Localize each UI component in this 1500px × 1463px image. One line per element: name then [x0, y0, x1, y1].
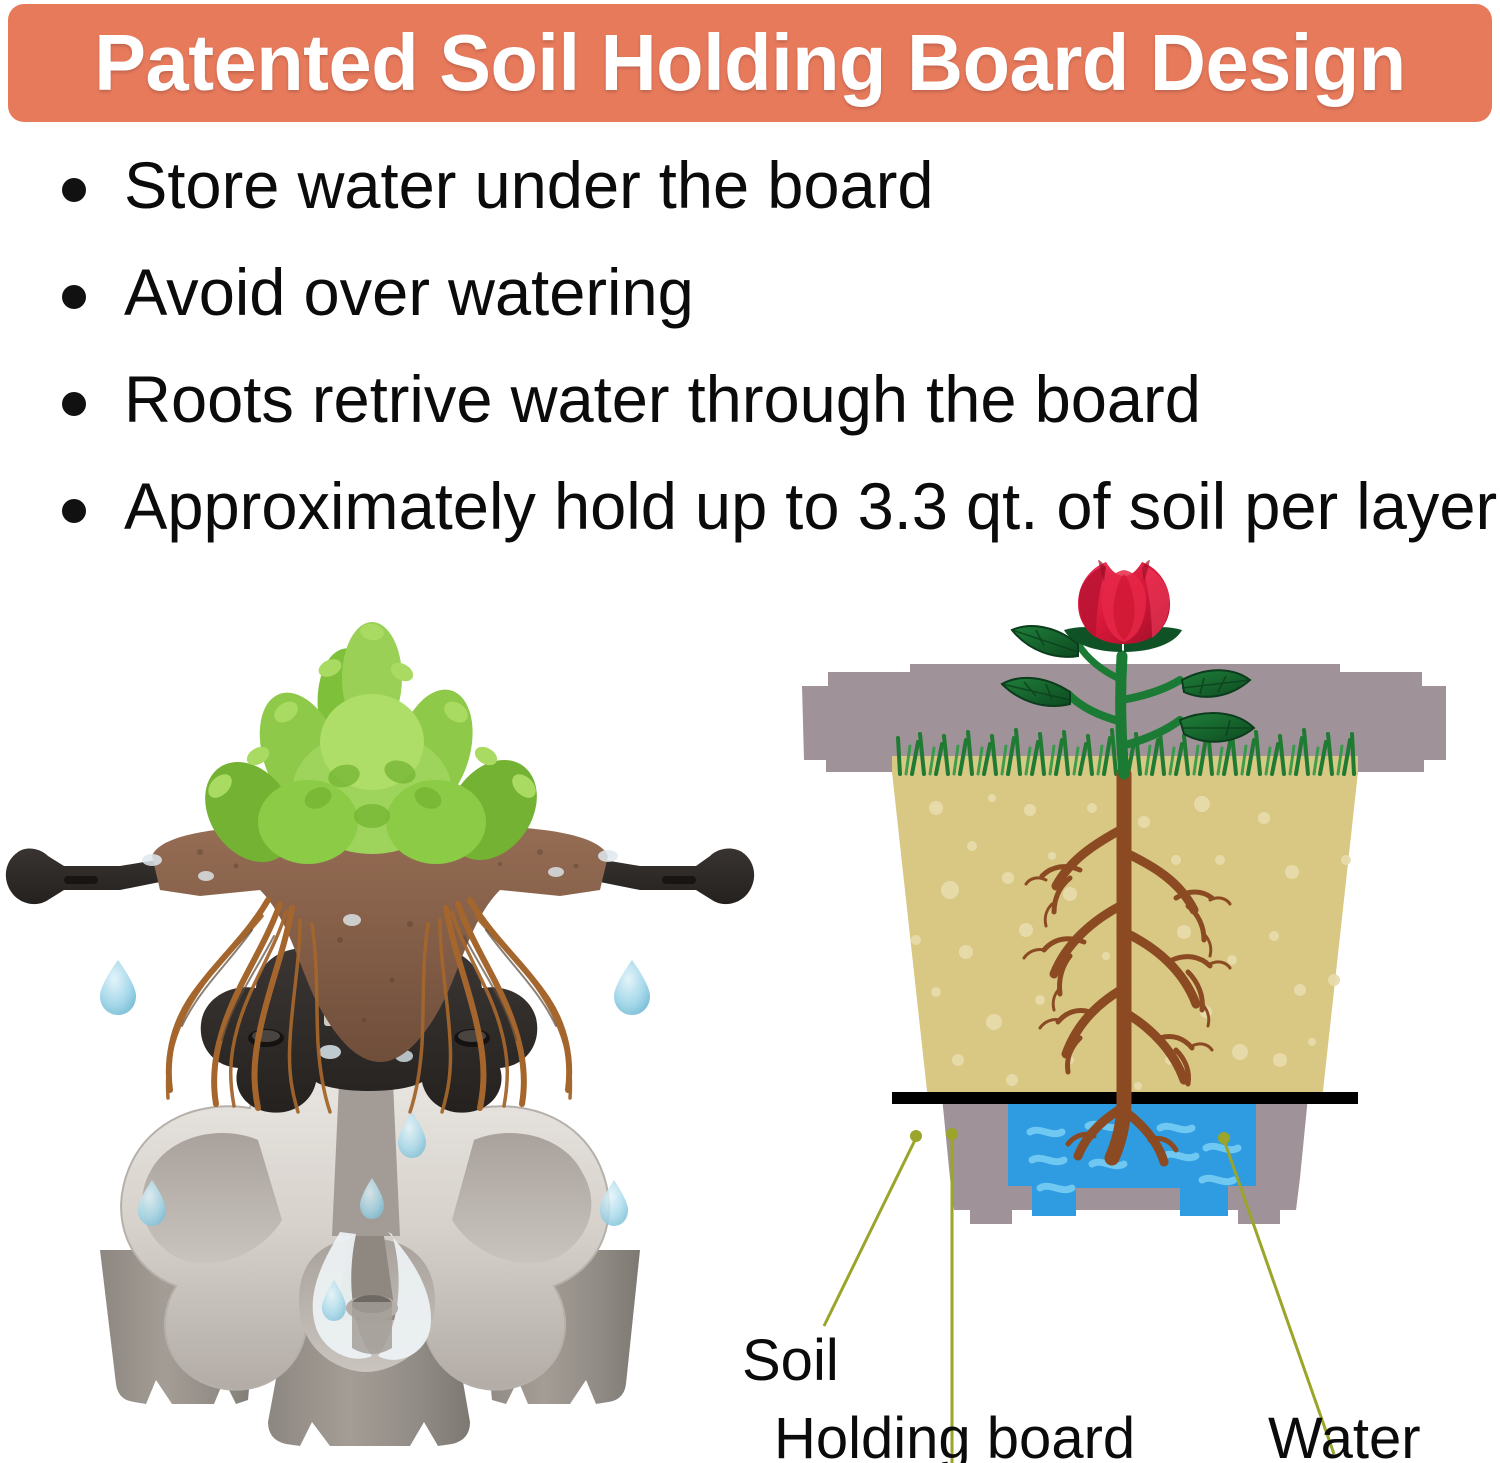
- bullet-dot-icon: [62, 178, 86, 202]
- diagram-labels: Soil Holding board Water: [742, 1328, 1421, 1463]
- bullet-dot-icon: [62, 285, 86, 309]
- bullet-dot-icon: [62, 499, 86, 523]
- stackable-planter-product-photo: [0, 560, 760, 1463]
- feature-bullet-list: Store water under the board Avoid over w…: [0, 152, 1500, 580]
- bullet-text: Roots retrive water through the board: [124, 366, 1201, 432]
- bullet-dot-icon: [62, 392, 86, 416]
- pot-cross-section-diagram: Soil Holding board Water: [740, 560, 1500, 1463]
- bullet-text: Store water under the board: [124, 152, 934, 218]
- list-item: Avoid over watering: [0, 259, 1500, 366]
- label-water: Water: [1268, 1406, 1421, 1463]
- page-title: Patented Soil Holding Board Design: [94, 23, 1405, 103]
- label-soil: Soil: [742, 1328, 839, 1393]
- list-item: Roots retrive water through the board: [0, 366, 1500, 473]
- label-holding-board: Holding board: [774, 1406, 1135, 1463]
- list-item: Store water under the board: [0, 152, 1500, 259]
- green-plant-foliage: [187, 622, 556, 879]
- bullet-text: Approximately hold up to 3.3 qt. of soil…: [124, 473, 1497, 539]
- bullet-text: Avoid over watering: [124, 259, 694, 325]
- figure-area: Soil Holding board Water: [0, 560, 1500, 1463]
- header-banner: Patented Soil Holding Board Design: [8, 4, 1492, 122]
- rose-bloom: [1078, 560, 1170, 644]
